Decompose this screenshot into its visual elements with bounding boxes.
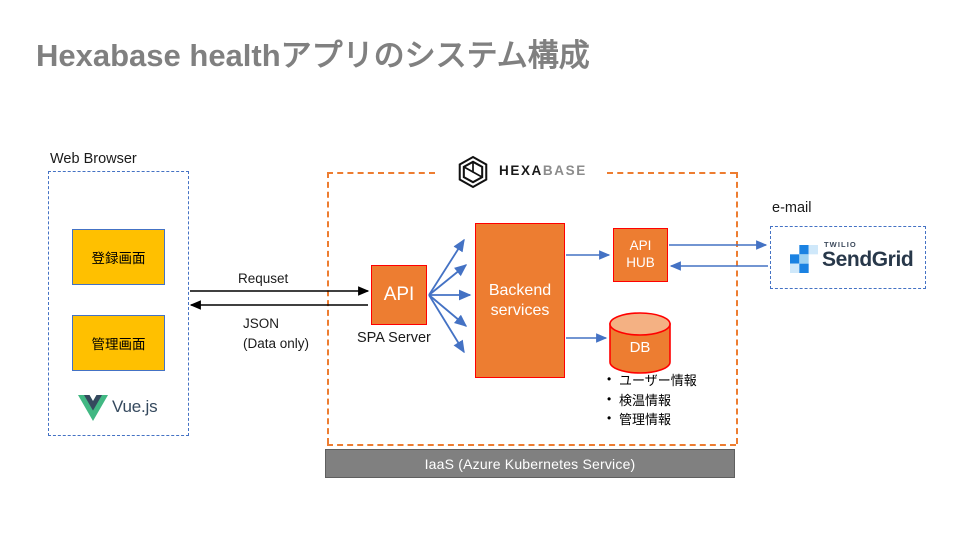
hexabase-border-left	[327, 172, 329, 444]
vuejs-mark-icon	[78, 395, 108, 421]
sendgrid-mark-icon	[790, 245, 818, 273]
hexabase-wordmark: HEXABASE	[499, 163, 587, 178]
hexabase-border-right	[736, 172, 738, 444]
hexabase-hexagon-icon	[455, 155, 491, 189]
hexabase-border-top-right	[607, 172, 736, 174]
backend-services-label-line1: Backend	[489, 281, 551, 301]
database-label: DB	[609, 339, 671, 356]
email-label: e-mail	[772, 200, 811, 216]
response-arrow-label-line2: (Data only)	[243, 334, 309, 354]
hexabase-border-top-left	[327, 172, 435, 174]
page-title: Hexabase healthアプリのシステム構成	[36, 30, 590, 75]
api-hub-label-line2: HUB	[626, 255, 655, 272]
register-screen-box[interactable]: 登録画面	[72, 229, 165, 285]
request-arrow-label: Requset	[238, 271, 288, 286]
spa-server-label: SPA Server	[357, 330, 431, 346]
hexabase-wordmark-light: BASE	[543, 163, 587, 178]
hexabase-border-bottom	[327, 444, 736, 446]
database-cylinder[interactable]: DB	[609, 312, 671, 374]
hexabase-logo: HEXABASE	[455, 155, 580, 189]
api-hub-label-line1: API	[630, 238, 652, 255]
list-item: ユーザー情報	[607, 371, 697, 391]
api-hub-box[interactable]: API HUB	[613, 228, 668, 282]
database-contents-list: ユーザー情報 検温情報 管理情報	[607, 371, 697, 430]
admin-screen-box[interactable]: 管理画面	[72, 315, 165, 371]
backend-services-label-line2: services	[491, 301, 550, 321]
response-arrow-label-line1: JSON	[243, 314, 309, 334]
list-item: 検温情報	[607, 391, 697, 411]
response-arrow-label: JSON (Data only)	[243, 314, 309, 353]
api-box-label: API	[384, 283, 415, 307]
sendgrid-name: SendGrid	[822, 248, 913, 272]
list-item: 管理情報	[607, 410, 697, 430]
backend-services-box[interactable]: Backend services	[475, 223, 565, 378]
web-browser-label: Web Browser	[50, 151, 137, 167]
vuejs-logo: Vue.js	[78, 392, 162, 424]
api-box[interactable]: API	[371, 265, 427, 325]
diagram-canvas: Hexabase healthアプリのシステム構成 Web Browser 登録…	[0, 0, 960, 543]
sendgrid-logo: TWILIO SendGrid	[790, 240, 910, 276]
hexabase-wordmark-bold: HEXA	[499, 163, 543, 178]
iaas-bar: IaaS (Azure Kubernetes Service)	[325, 449, 735, 478]
vuejs-label: Vue.js	[112, 397, 157, 417]
